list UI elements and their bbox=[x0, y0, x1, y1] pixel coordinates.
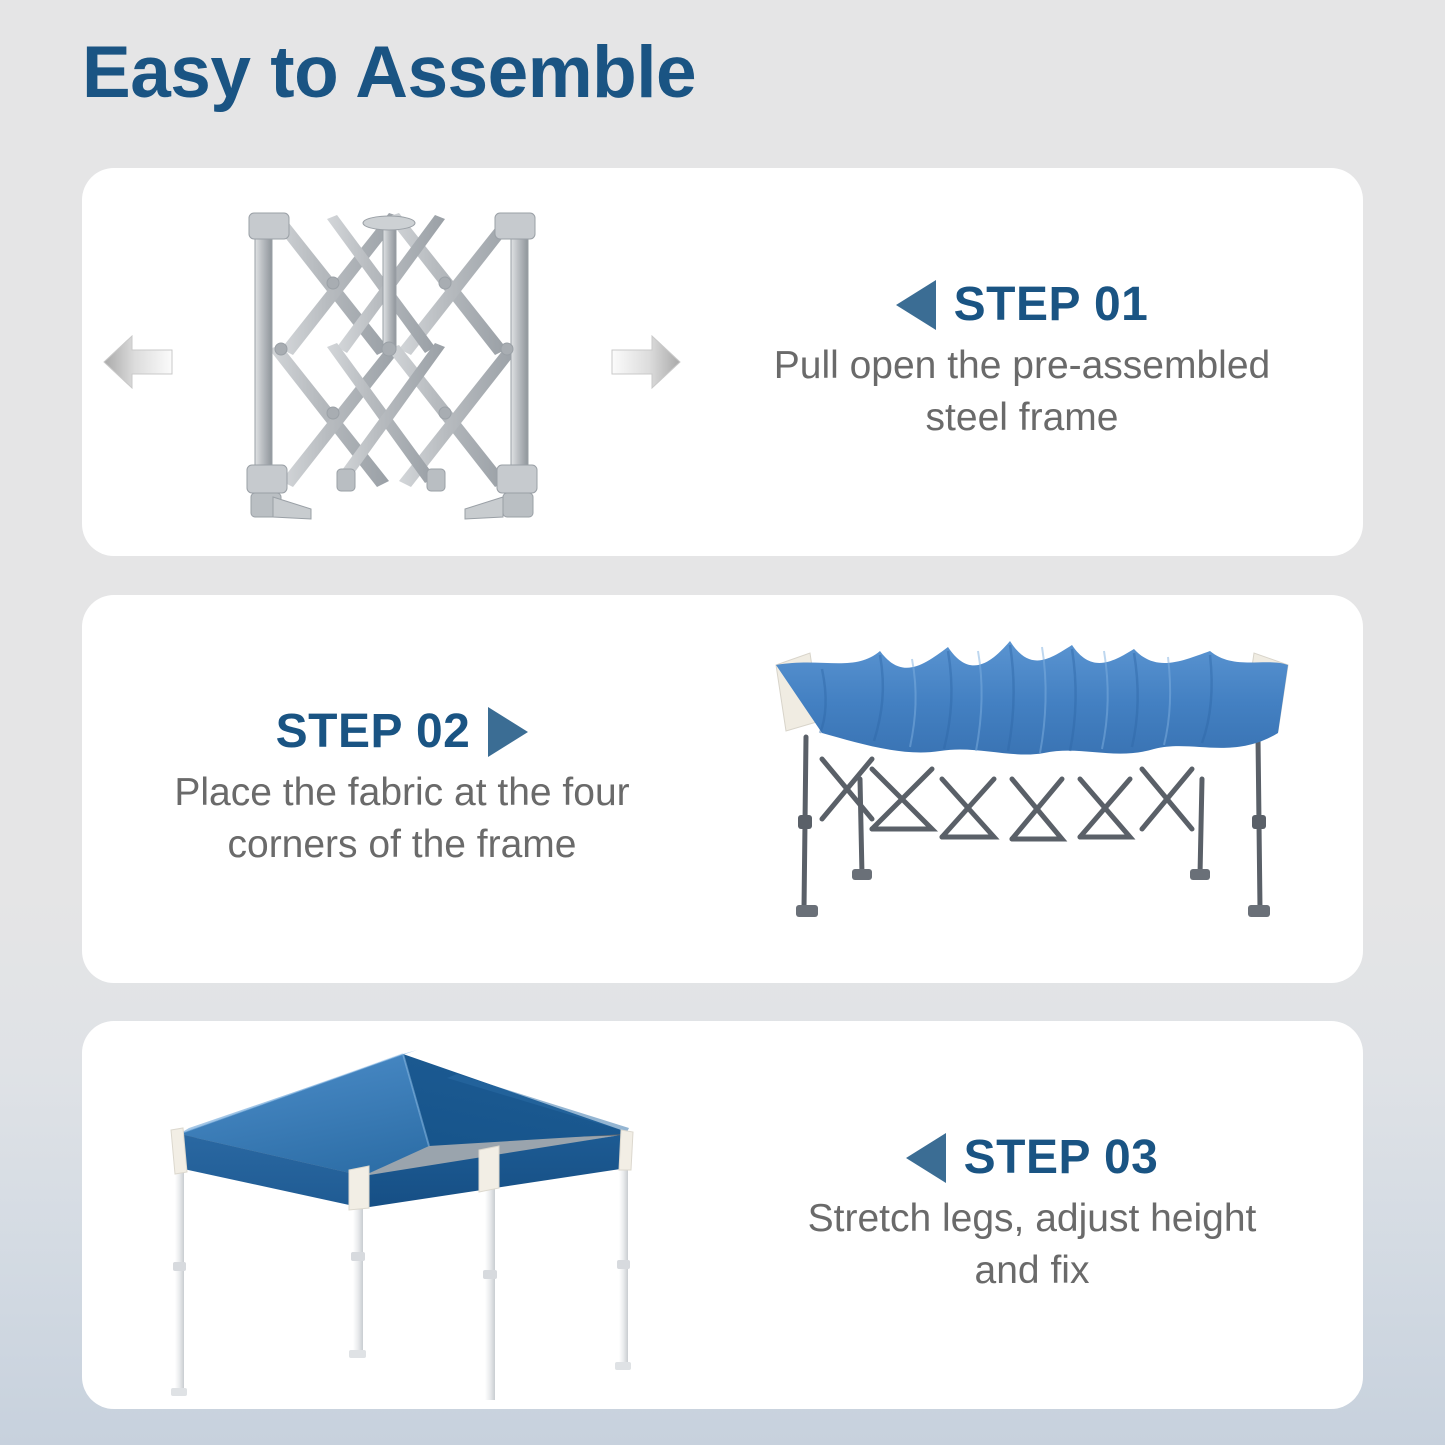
step-card-1: STEP 01 Pull open the pre-assembled stee… bbox=[82, 168, 1363, 556]
step-3-label: STEP 03 bbox=[964, 1133, 1159, 1183]
triangle-right-icon bbox=[488, 707, 528, 757]
page-title: Easy to Assemble bbox=[82, 36, 696, 109]
step-1-description: Pull open the pre-assembled steel frame bbox=[762, 340, 1282, 444]
step-2-label: STEP 02 bbox=[276, 707, 471, 757]
step-card-3: STEP 03 Stretch legs, adjust height and … bbox=[82, 1021, 1363, 1409]
step-1-heading: STEP 01 bbox=[712, 280, 1332, 330]
step-1-illustration-area bbox=[82, 168, 702, 556]
assembled-canopy-illustration bbox=[117, 1030, 687, 1400]
step-1-label: STEP 01 bbox=[954, 280, 1149, 330]
step-3-heading: STEP 03 bbox=[732, 1133, 1332, 1183]
step-2-text-block: STEP 02 Place the fabric at the four cor… bbox=[82, 707, 722, 871]
folded-steel-frame-illustration bbox=[177, 197, 607, 527]
step-2-heading: STEP 02 bbox=[92, 707, 712, 757]
step-3-text-block: STEP 03 Stretch legs, adjust height and … bbox=[722, 1133, 1342, 1297]
arrow-left-icon bbox=[102, 332, 174, 392]
triangle-left-icon bbox=[896, 280, 936, 330]
draped-fabric-canopy-illustration bbox=[762, 629, 1302, 949]
step-2-description: Place the fabric at the four corners of … bbox=[142, 767, 662, 871]
step-1-text-block: STEP 01 Pull open the pre-assembled stee… bbox=[702, 280, 1342, 444]
step-3-illustration-area bbox=[82, 1021, 722, 1409]
step-3-description: Stretch legs, adjust height and fix bbox=[772, 1193, 1292, 1297]
triangle-left-icon bbox=[906, 1133, 946, 1183]
step-card-2: STEP 02 Place the fabric at the four cor… bbox=[82, 595, 1363, 983]
arrow-right-icon bbox=[610, 332, 682, 392]
step-2-illustration-area bbox=[722, 595, 1342, 983]
